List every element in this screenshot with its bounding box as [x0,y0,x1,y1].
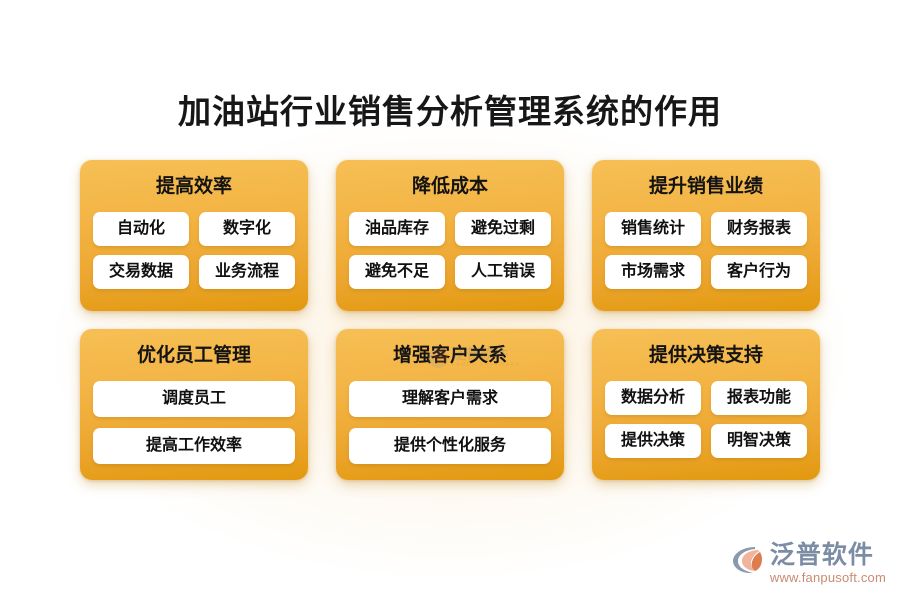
benefit-card-6-title: 提供决策支持 [605,343,807,369]
benefit-chip[interactable]: 客户行为 [711,255,807,289]
benefit-chip[interactable]: 自动化 [93,212,189,246]
benefit-card-2-title: 降低成本 [349,174,551,200]
fanpu-logo-icon [730,543,764,577]
page-title: 加油站行业销售分析管理系统的作用 [0,92,900,132]
benefit-card-1-items: 自动化 数字化 交易数据 业务流程 [93,212,295,289]
benefit-chip[interactable]: 提供决策 [605,424,701,458]
benefit-card-1: 提高效率 自动化 数字化 交易数据 业务流程 [80,160,308,311]
benefit-chip[interactable]: 财务报表 [711,212,807,246]
benefit-chip[interactable]: 明智决策 [711,424,807,458]
benefit-chip[interactable]: 提高工作效率 [93,428,295,464]
benefit-card-3-items: 销售统计 财务报表 市场需求 客户行为 [605,212,807,289]
benefit-chip[interactable]: 提供个性化服务 [349,428,551,464]
benefit-chip[interactable]: 业务流程 [199,255,295,289]
benefit-chip[interactable]: 调度员工 [93,381,295,417]
benefit-card-4-items: 调度员工 提高工作效率 [93,381,295,464]
benefit-chip[interactable]: 油品库存 [349,212,445,246]
brand-logo: 泛普软件 www.fanpusoft.com [730,541,886,586]
benefit-card-2: 降低成本 油品库存 避免过剩 避免不足 人工错误 [336,160,564,311]
benefit-card-1-title: 提高效率 [93,174,295,200]
benefit-chip[interactable]: 避免过剩 [455,212,551,246]
benefit-chip[interactable]: 市场需求 [605,255,701,289]
benefit-chip[interactable]: 理解客户需求 [349,381,551,417]
benefit-chip[interactable]: 报表功能 [711,381,807,415]
benefit-card-6: 提供决策支持 数据分析 报表功能 提供决策 明智决策 [592,329,820,480]
benefit-card-5-title: 增强客户关系 [349,343,551,369]
benefit-chip[interactable]: 数据分析 [605,381,701,415]
benefit-chip[interactable]: 销售统计 [605,212,701,246]
benefit-chip[interactable]: 避免不足 [349,255,445,289]
benefit-card-3-title: 提升销售业绩 [605,174,807,200]
brand-name: 泛普软件 [770,541,886,569]
infographic-canvas: 加油站行业销售分析管理系统的作用 提高效率 自动化 数字化 交易数据 业务流程 … [0,0,900,600]
benefit-card-5-items: 理解客户需求 提供个性化服务 [349,381,551,464]
benefit-card-3: 提升销售业绩 销售统计 财务报表 市场需求 客户行为 [592,160,820,311]
brand-text: 泛普软件 www.fanpusoft.com [770,541,886,586]
benefit-card-2-items: 油品库存 避免过剩 避免不足 人工错误 [349,212,551,289]
benefit-chip[interactable]: 人工错误 [455,255,551,289]
benefit-card-5: 增强客户关系 泛普软件 FANPU SOFTWARE 理解客户需求 提供个性化服… [336,329,564,480]
benefit-card-grid: 提高效率 自动化 数字化 交易数据 业务流程 降低成本 油品库存 避免过剩 避免… [80,160,820,480]
benefit-card-4: 优化员工管理 调度员工 提高工作效率 [80,329,308,480]
benefit-card-4-title: 优化员工管理 [93,343,295,369]
benefit-card-6-items: 数据分析 报表功能 提供决策 明智决策 [605,381,807,458]
benefit-chip[interactable]: 交易数据 [93,255,189,289]
benefit-chip[interactable]: 数字化 [199,212,295,246]
brand-url: www.fanpusoft.com [770,570,886,586]
